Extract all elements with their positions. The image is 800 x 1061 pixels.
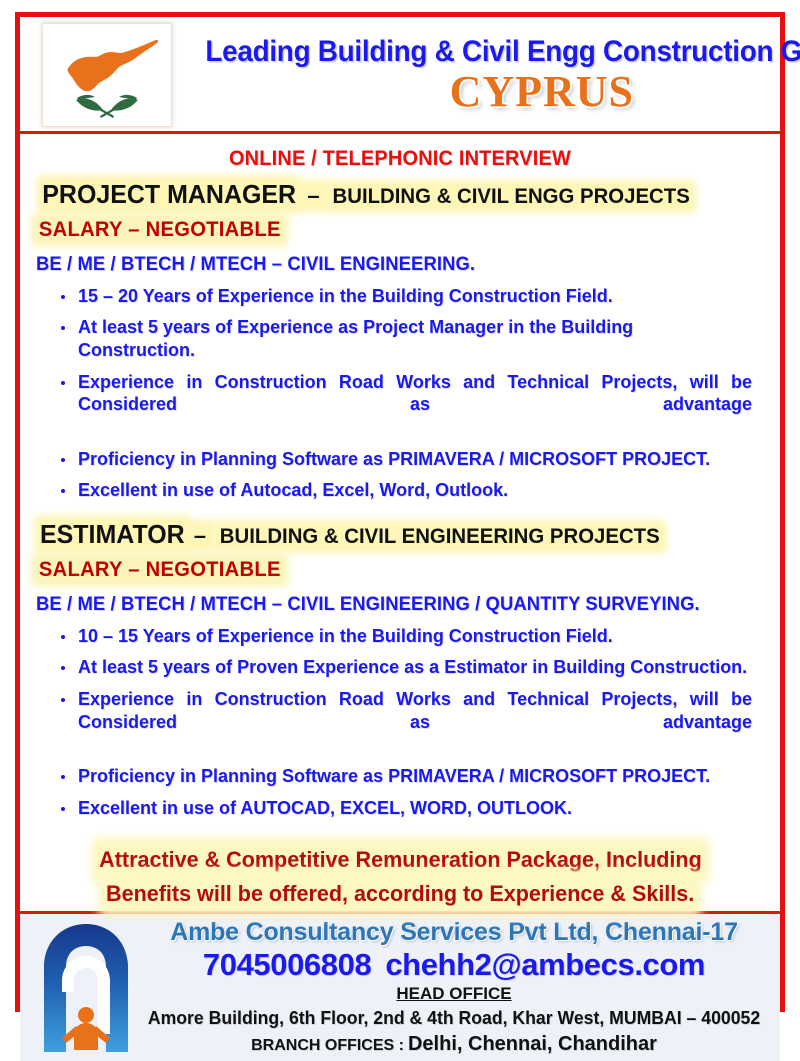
ambe-logo-icon (20, 914, 140, 1061)
salary-line: SALARY – NEGOTIABLE (36, 558, 284, 582)
remuneration-line-1: Attractive & Competitive Remuneration Pa… (97, 843, 704, 877)
job-dash: – (302, 184, 324, 208)
list-item: Experience in Construction Road Works an… (58, 688, 752, 756)
job-title: ESTIMATOR (39, 520, 186, 549)
footer-text-block: Ambe Consultancy Services Pvt Ltd, Chenn… (140, 914, 780, 1061)
requirements-list: 15 – 20 Years of Experience in the Build… (20, 285, 780, 502)
interview-mode-line: ONLINE / TELEPHONIC INTERVIEW (39, 147, 761, 171)
poster-footer: Ambe Consultancy Services Pvt Ltd, Chenn… (20, 911, 780, 1061)
list-item: Proficiency in Planning Software as PRIM… (58, 765, 752, 788)
head-office-address: Amore Building, 6th Floor, 2nd & 4th Roa… (146, 1007, 761, 1030)
list-item: 10 – 15 Years of Experience in the Build… (58, 625, 752, 648)
job-advertisement-poster: Leading Building & Civil Engg Constructi… (15, 12, 785, 1012)
job-heading: PROJECT MANAGER–BUILDING & CIVIL ENGG PR… (36, 180, 780, 209)
poster-body: ONLINE / TELEPHONIC INTERVIEW PROJECT MA… (20, 134, 780, 911)
qualification-line: BE / ME / BTECH / MTECH – CIVIL ENGINEER… (36, 594, 758, 616)
phone-number[interactable]: 7045006808 (203, 947, 371, 982)
head-office-label: HEAD OFFICE (140, 984, 768, 1004)
job-scope: BUILDING & CIVIL ENGINEERING PROJECTS (218, 525, 662, 548)
list-item: At least 5 years of Proven Experience as… (58, 656, 752, 679)
job-heading: ESTIMATOR–BUILDING & CIVIL ENGINEERING P… (36, 520, 780, 549)
list-item: 15 – 20 Years of Experience in the Build… (58, 285, 752, 308)
branch-offices-label: BRANCH OFFICES : (251, 1037, 404, 1054)
job-dash: – (189, 524, 211, 548)
email-address[interactable]: chehh2@ambecs.com (385, 947, 705, 982)
position-block-project-manager: PROJECT MANAGER–BUILDING & CIVIL ENGG PR… (20, 180, 780, 502)
cyprus-flag-icon (42, 23, 172, 127)
header-text-block: Leading Building & Civil Engg Constructi… (180, 36, 800, 113)
remuneration-note: Attractive & Competitive Remuneration Pa… (40, 843, 760, 911)
section-divider (20, 502, 780, 520)
salary-line: SALARY – NEGOTIABLE (36, 218, 284, 242)
contact-line: 7045006808chehh2@ambecs.com (140, 948, 768, 982)
poster-header: Leading Building & Civil Engg Constructi… (20, 17, 780, 134)
list-item: Excellent in use of AUTOCAD, EXCEL, WORD… (58, 797, 752, 820)
position-block-estimator: ESTIMATOR–BUILDING & CIVIL ENGINEERING P… (20, 520, 780, 819)
country-title: CYPRUS (180, 70, 800, 114)
job-scope: BUILDING & CIVIL ENGG PROJECTS (330, 185, 691, 208)
requirements-list: 10 – 15 Years of Experience in the Build… (20, 625, 780, 820)
list-item: Experience in Construction Road Works an… (58, 371, 752, 439)
list-item: Excellent in use of Autocad, Excel, Word… (58, 479, 752, 502)
job-title: PROJECT MANAGER (41, 180, 297, 209)
company-name: Ambe Consultancy Services Pvt Ltd, Chenn… (140, 918, 768, 947)
poster-headline: Leading Building & Civil Engg Constructi… (205, 36, 800, 67)
list-item: At least 5 years of Experience as Projec… (58, 316, 752, 361)
remuneration-line-2: Benefits will be offered, according to E… (104, 877, 696, 911)
branch-offices: BRANCH OFFICES :Delhi, Chennai, Chandiha… (140, 1032, 768, 1057)
branch-offices-cities: Delhi, Chennai, Chandihar (408, 1033, 657, 1055)
qualification-line: BE / ME / BTECH / MTECH – CIVIL ENGINEER… (36, 254, 758, 276)
list-item: Proficiency in Planning Software as PRIM… (58, 448, 752, 471)
